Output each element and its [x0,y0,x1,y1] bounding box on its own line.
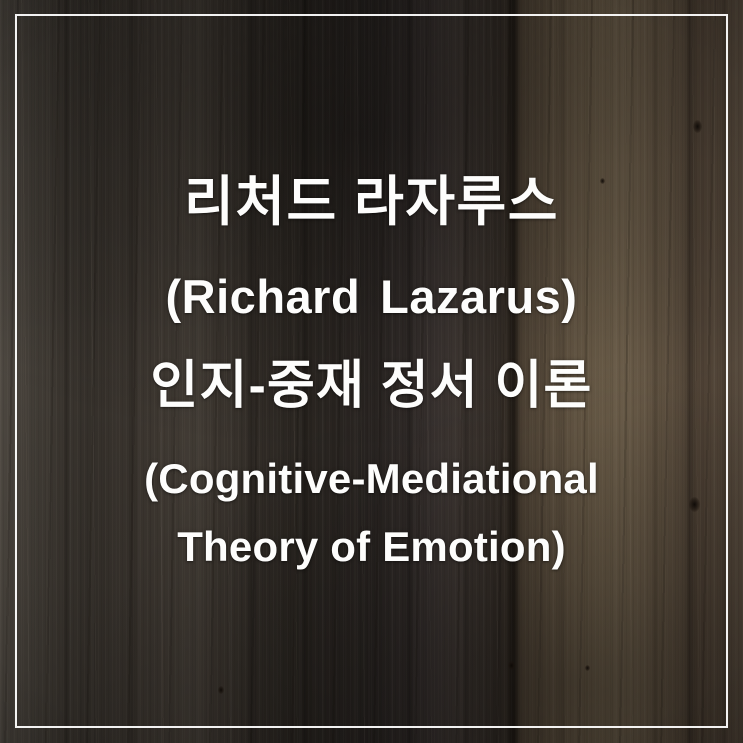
title-line-english-theory-1: (Cognitive-Mediational [0,458,743,500]
title-line-korean-theory: 인지-중재 정서 이론 [0,360,743,412]
title-line-korean-name: 리처드 라자루스 [0,175,743,229]
english-name-part-a: (Richard [166,270,361,323]
title-line-english-theory-2: Theory of Emotion) [0,526,743,568]
title-card: 리처드 라자루스 (RichardLazarus) 인지-중재 정서 이론 (C… [0,0,743,743]
title-text-block: 리처드 라자루스 (RichardLazarus) 인지-중재 정서 이론 (C… [0,0,743,743]
title-line-english-name: (RichardLazarus) [0,273,743,320]
english-name-part-b: Lazarus) [380,270,577,323]
